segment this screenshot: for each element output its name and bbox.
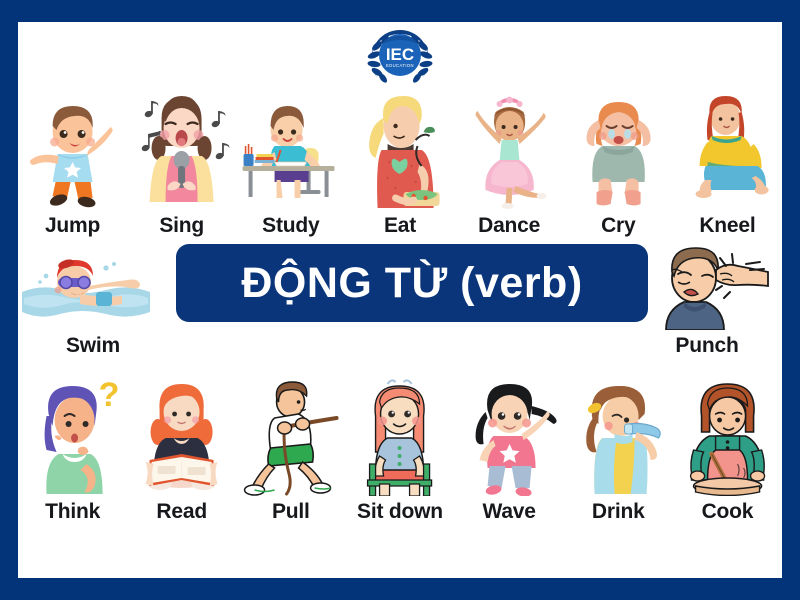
verb-card-cook[interactable]: Cook xyxy=(673,362,782,524)
verb-card-dance[interactable]: Dance xyxy=(455,78,564,238)
verb-label: Kneel xyxy=(699,214,755,238)
logo-primary-text: IEC xyxy=(386,45,414,64)
verb-card-drink[interactable]: Drink xyxy=(564,362,673,524)
verb-card-think[interactable]: ? Think xyxy=(18,362,127,524)
verb-label: Drink xyxy=(592,500,645,524)
verb-card-jump[interactable]: Jump xyxy=(18,78,127,238)
pull-illustration xyxy=(236,376,345,496)
verb-label: Jump xyxy=(45,214,100,238)
verb-label: Cook xyxy=(702,500,754,524)
verb-row-bottom: ? Think xyxy=(18,362,782,524)
think-illustration: ? xyxy=(18,376,127,496)
logo-sub-text: EDUCATION xyxy=(386,63,414,68)
verb-label: Cry xyxy=(601,214,635,238)
verb-card-sit-down[interactable]: Sit down xyxy=(345,362,454,524)
kneel-illustration xyxy=(673,90,782,210)
read-illustration xyxy=(127,376,236,496)
verb-label: Dance xyxy=(478,214,540,238)
verb-label: Study xyxy=(262,214,319,238)
dance-illustration xyxy=(455,90,564,210)
verb-card-kneel[interactable]: Kneel xyxy=(673,78,782,238)
verb-card-swim[interactable]: Swim xyxy=(18,240,168,358)
cry-illustration xyxy=(564,90,673,210)
cook-illustration xyxy=(673,376,782,496)
eat-illustration xyxy=(345,90,454,210)
verb-label: Wave xyxy=(482,500,535,524)
verb-card-punch[interactable]: Punch xyxy=(632,240,782,358)
verb-label: Sit down xyxy=(357,500,443,524)
verb-label: Pull xyxy=(272,500,310,524)
verb-label: Think xyxy=(45,500,100,524)
verb-card-cry[interactable]: Cry xyxy=(564,78,673,238)
verb-label: Eat xyxy=(384,214,416,238)
sing-illustration xyxy=(127,90,236,210)
verb-label: Read xyxy=(156,500,207,524)
poster-inner: IEC EDUCATION xyxy=(18,22,782,578)
swim-illustration xyxy=(18,242,168,330)
verb-card-eat[interactable]: Eat xyxy=(345,78,454,238)
verb-card-read[interactable]: Read xyxy=(127,362,236,524)
iec-logo-icon: IEC EDUCATION xyxy=(355,22,445,84)
drink-illustration xyxy=(564,376,673,496)
punch-illustration xyxy=(632,242,782,330)
middle-band: Swim ĐỘNG TỪ (verb) xyxy=(18,240,782,358)
verb-label: Sing xyxy=(159,214,204,238)
verb-card-wave[interactable]: Wave xyxy=(455,362,564,524)
verb-card-study[interactable]: Study xyxy=(236,78,345,238)
sit-down-illustration xyxy=(345,376,454,496)
wave-illustration xyxy=(455,376,564,496)
verb-label: Swim xyxy=(66,334,120,358)
title-banner: ĐỘNG TỪ (verb) xyxy=(176,244,648,322)
study-illustration xyxy=(236,90,345,210)
page-title: ĐỘNG TỪ (verb) xyxy=(241,262,582,305)
verb-row-top: Jump xyxy=(18,78,782,238)
jump-illustration xyxy=(18,90,127,210)
question-mark-icon: ? xyxy=(99,376,120,414)
verb-vocabulary-poster: IEC EDUCATION xyxy=(0,0,800,600)
verb-label: Punch xyxy=(675,334,738,358)
verb-card-pull[interactable]: Pull xyxy=(236,362,345,524)
iec-logo: IEC EDUCATION xyxy=(355,22,445,84)
verb-card-sing[interactable]: Sing xyxy=(127,78,236,238)
